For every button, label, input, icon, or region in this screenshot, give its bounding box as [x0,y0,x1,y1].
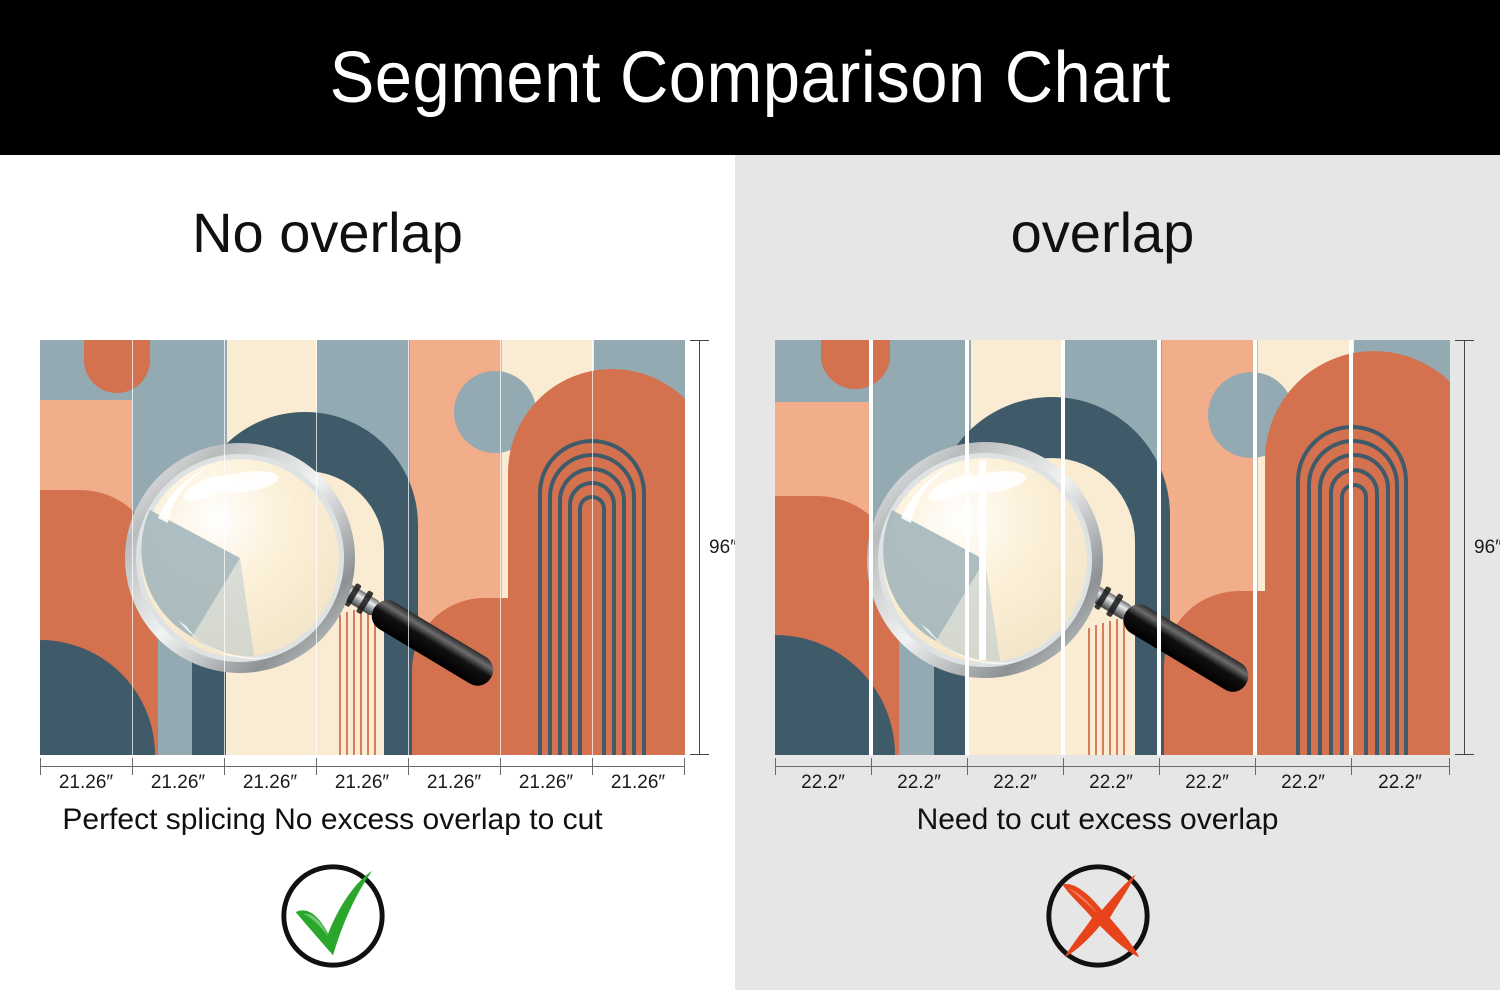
caption-overlap: Need to cut excess overlap [735,805,1500,835]
segment-label: 22.2″ [1351,772,1449,794]
segment-label: 22.2″ [871,772,967,794]
height-dimension-no-overlap: 96″ [685,340,731,755]
page-title: Segment Comparison Chart [329,42,1170,114]
segment-label: 21.26″ [408,772,500,794]
panel-heading-no-overlap: No overlap [0,205,735,261]
verdict-no-overlap [0,855,735,973]
segment-label: 21.26″ [592,772,684,794]
segment-label: 21.26″ [316,772,408,794]
red-cross-icon [1039,855,1157,973]
wallpaper-art-svg [40,340,685,755]
height-dimension-overlap: 96″ [1450,340,1496,755]
segment-label: 21.26″ [500,772,592,794]
segment-label: 21.26″ [132,772,224,794]
height-label-overlap: 96″ [1474,537,1500,559]
segment-label: 21.26″ [40,772,132,794]
dimension-tick [1455,754,1474,755]
segment-label: 22.2″ [1255,772,1351,794]
dimension-tick [1449,758,1450,775]
segment-label: 22.2″ [775,772,871,794]
wallpaper-art-svg [775,340,1450,755]
verdict-overlap [735,855,1500,973]
segment-label: 22.2″ [1159,772,1255,794]
segment-label: 22.2″ [967,772,1063,794]
wallpaper-stage-no-overlap: 96″ 21.26″ 21.26″ 21.26″ 21.26″ 21.26″ 2… [40,340,685,755]
segment-dimension-overlap: 22.2″ 22.2″ 22.2″ 22.2″ 22.2″ 22.2″ 22.2… [775,758,1450,804]
wallpaper-artwork-overlap [775,340,1450,755]
dimension-line [775,766,1450,767]
segment-dimension-no-overlap: 21.26″ 21.26″ 21.26″ 21.26″ 21.26″ 21.26… [40,758,685,804]
segment-label: 22.2″ [1063,772,1159,794]
dimension-line [40,766,685,767]
dimension-tick [684,758,685,775]
wallpaper-stage-overlap: 96″ 22.2″ 22.2″ 22.2″ 22.2″ 22.2″ 22.2″ … [775,340,1450,755]
panel-overlap: overlap [735,155,1500,990]
height-label-no-overlap: 96″ [709,537,737,559]
title-banner: Segment Comparison Chart [0,0,1500,155]
dimension-tick [690,754,709,755]
segment-comparison-chart: Segment Comparison Chart No overlap [0,0,1500,990]
panel-heading-overlap: overlap [735,205,1500,261]
caption-no-overlap: Perfect splicing No excess overlap to cu… [0,805,735,835]
dimension-line [699,340,700,755]
wallpaper-artwork-no-overlap [40,340,685,755]
segment-label: 21.26″ [224,772,316,794]
panel-no-overlap: No overlap [0,155,735,990]
green-check-icon [274,855,392,973]
dimension-line [1464,340,1465,755]
